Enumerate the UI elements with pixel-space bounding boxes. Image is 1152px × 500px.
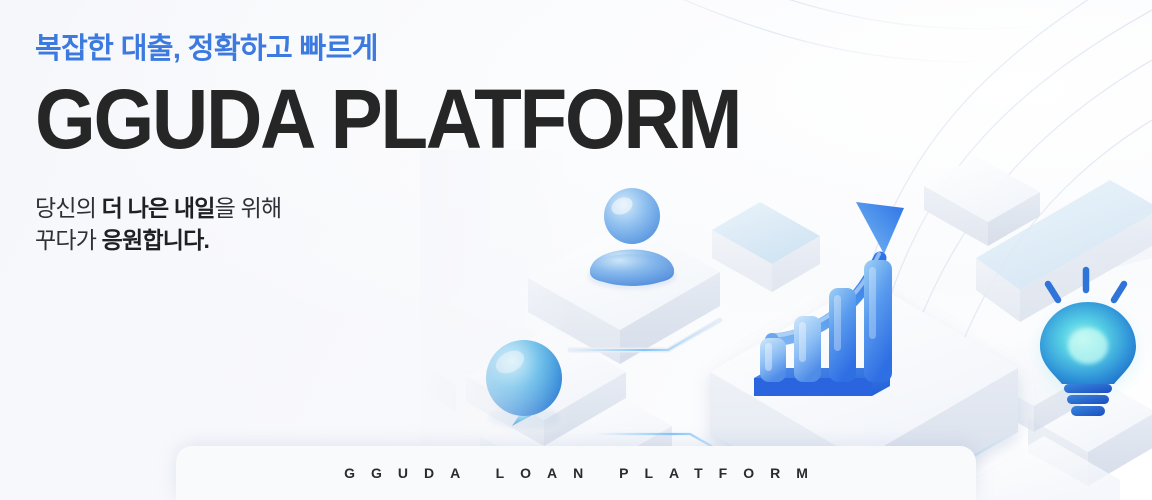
tagline-line-1-emphasis: 더 나은 내일 (102, 195, 215, 221)
chart-bar (829, 288, 856, 382)
tagline-line-1-tail: 을 위해 (215, 195, 282, 221)
lightbulb-base (1064, 384, 1112, 416)
tagline: 당신의 더 나은 내일을 위해 꾸다가 응원합니다. (35, 160, 675, 257)
tagline-line-2-lead: 꾸다가 (35, 227, 102, 253)
page-title: GGUDA PLATFORM (35, 66, 630, 160)
platform-label-text: GGUDA LOAN PLATFORM (328, 465, 824, 481)
tagline-line-1-lead: 당신의 (35, 195, 102, 221)
tagline-line-2-emphasis: 응원합니다. (102, 227, 209, 253)
tagline-line-1: 당신의 더 나은 내일을 위해 (35, 192, 675, 225)
eyebrow-text: 복잡한 대출, 정확하고 빠르게 (35, 34, 675, 66)
chart-bar (864, 260, 892, 382)
chart-bar (794, 316, 821, 382)
chart-bar (760, 338, 786, 382)
tagline-line-2: 꾸다가 응원합니다. (35, 224, 675, 257)
hero-banner: 복잡한 대출, 정확하고 빠르게 GGUDA PLATFORM 당신의 더 나은… (0, 0, 1152, 500)
hero-copy: 복잡한 대출, 정확하고 빠르게 GGUDA PLATFORM 당신의 더 나은… (35, 34, 675, 257)
platform-label-strip: GGUDA LOAN PLATFORM (176, 446, 976, 500)
